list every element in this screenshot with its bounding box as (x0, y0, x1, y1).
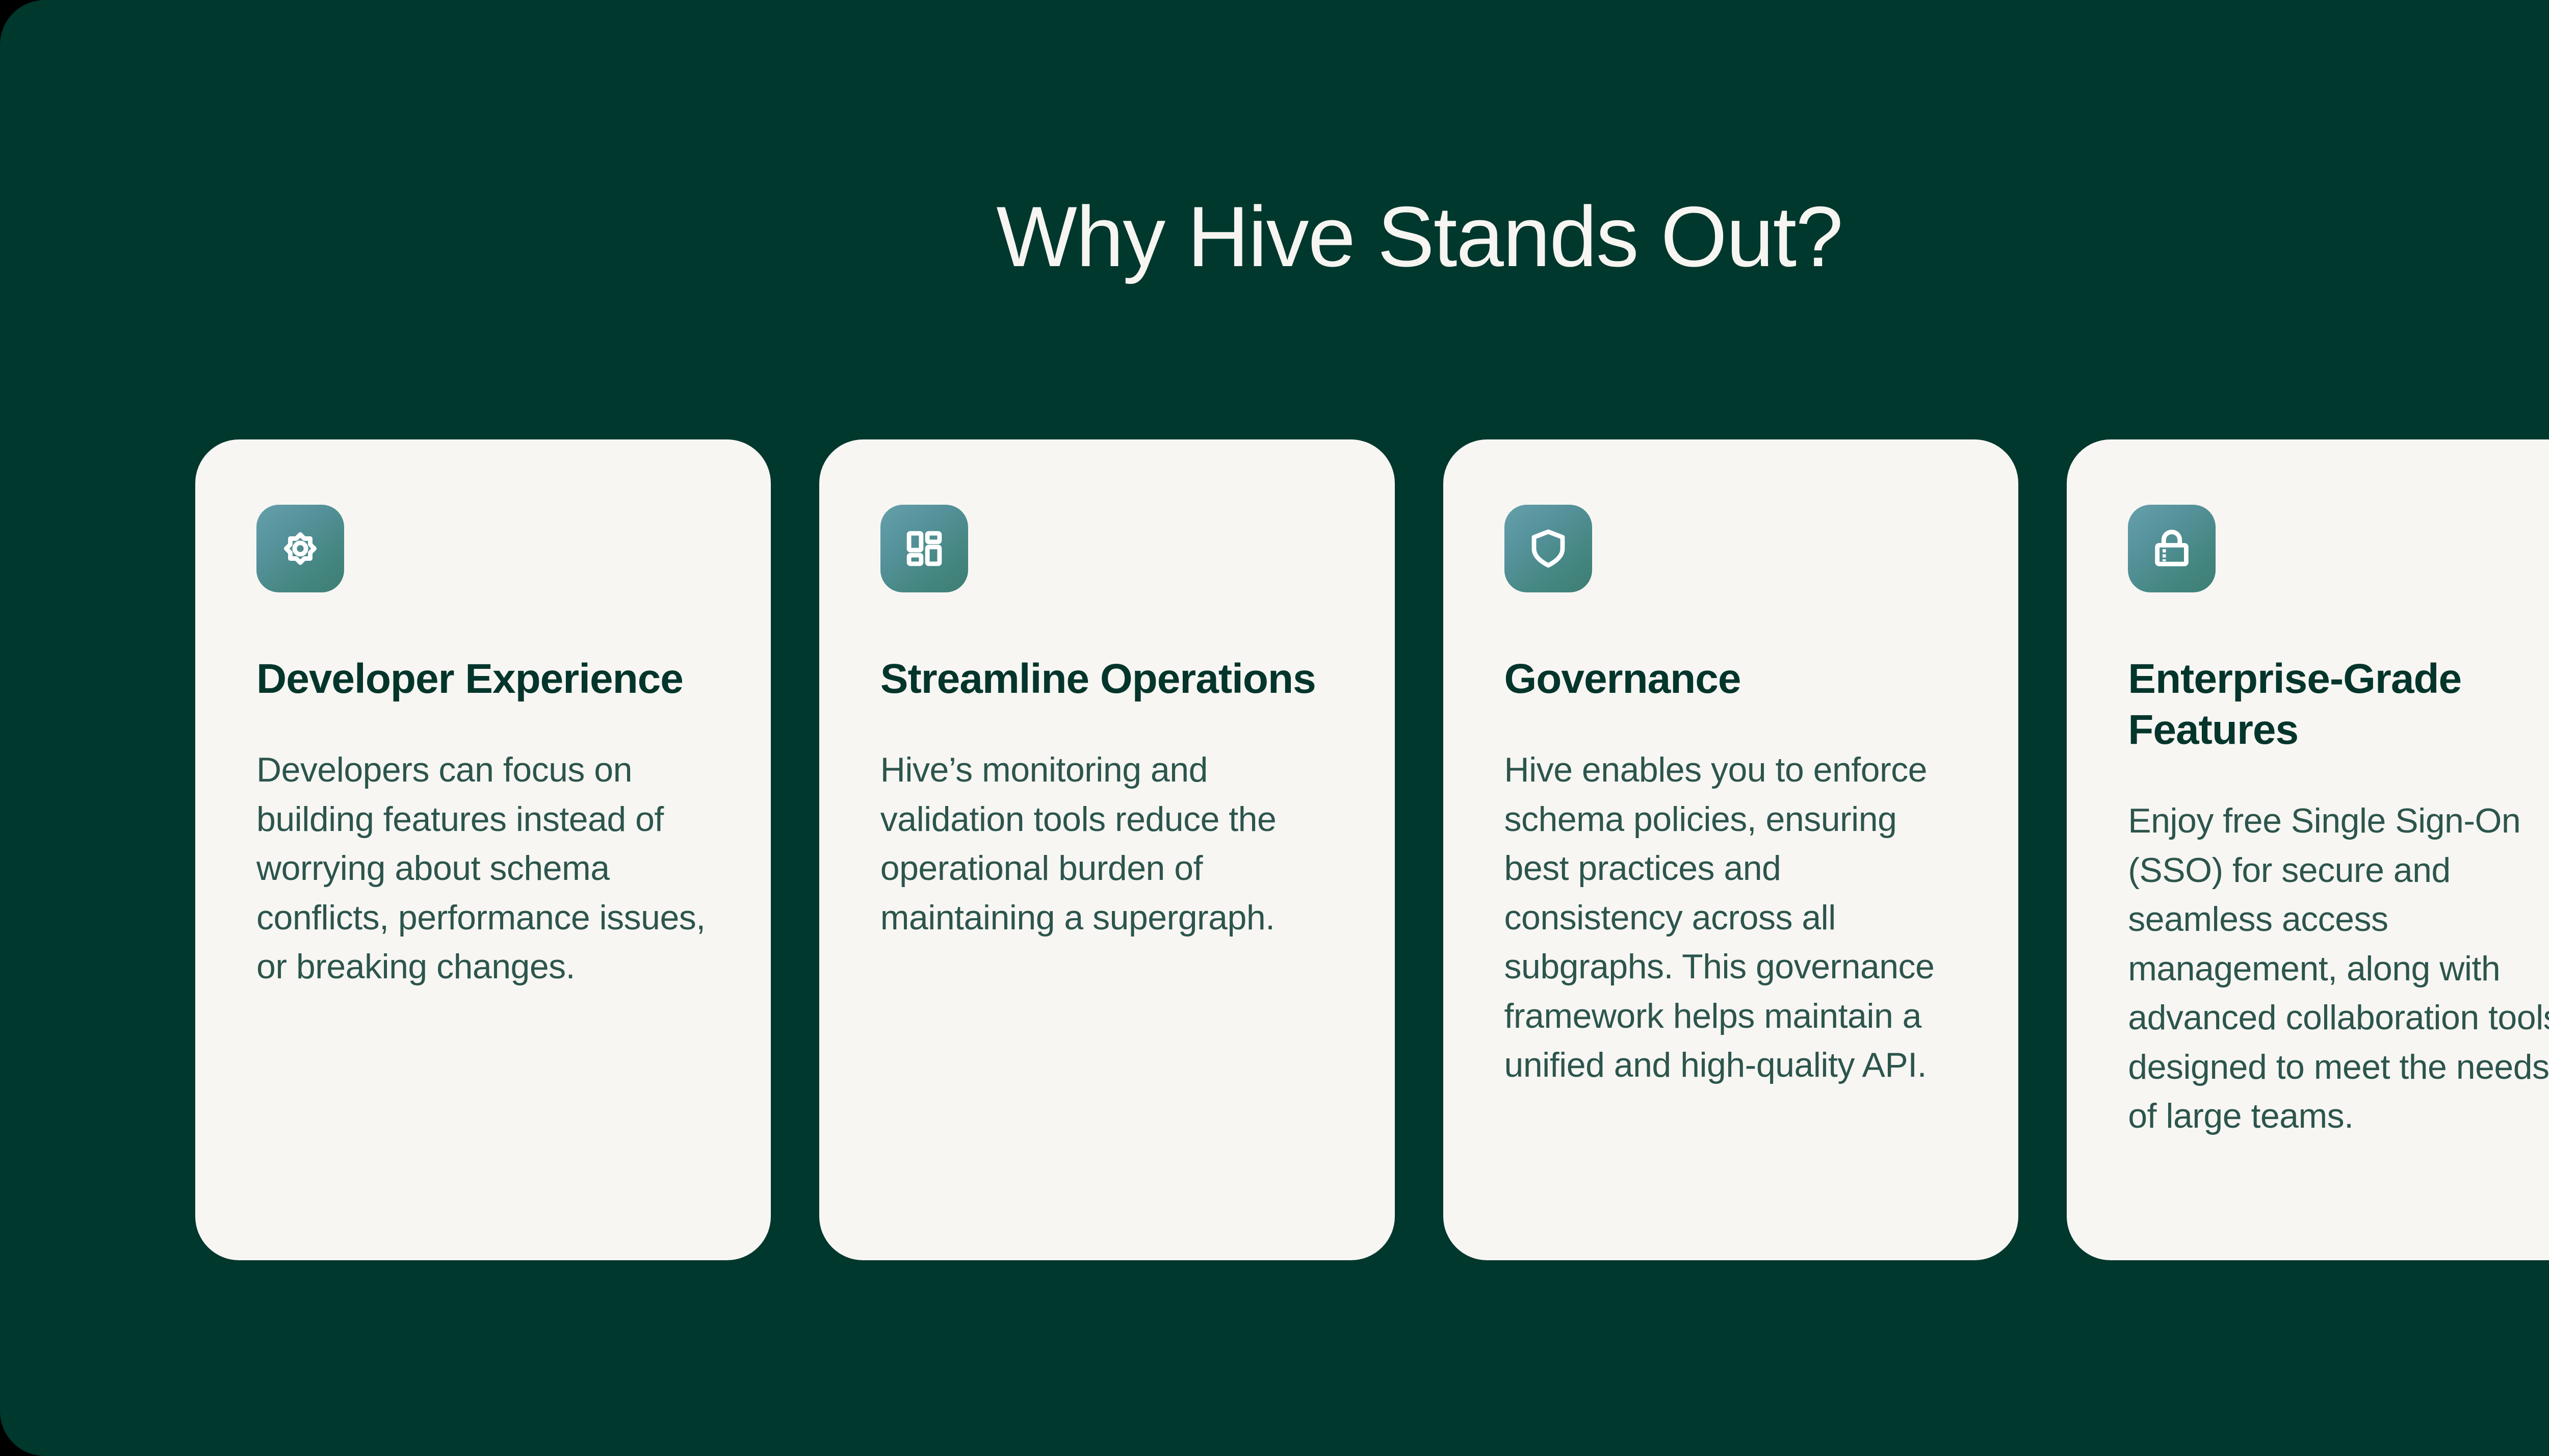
card-body: Enjoy free Single Sign-On (SSO) for secu… (2128, 796, 2549, 1141)
card-body: Hive enables you to enforce schema polic… (1504, 745, 1958, 1090)
feature-card-streamline-operations[interactable]: Streamline Operations Hive’s monitoring … (819, 439, 1395, 1260)
card-body: Developers can focus on building feature… (256, 745, 710, 992)
feature-card-enterprise-grade-features[interactable]: Enterprise-Grade Features Enjoy free Sin… (2067, 439, 2549, 1260)
icon-tile (880, 505, 968, 592)
gear-icon (277, 525, 324, 572)
card-title: Developer Experience (256, 654, 683, 705)
shield-icon (1525, 525, 1572, 572)
icon-tile (1504, 505, 1592, 592)
icon-tile (2128, 505, 2216, 592)
icon-tile (256, 505, 344, 592)
lock-icon (2148, 525, 2195, 572)
card-title: Streamline Operations (880, 654, 1316, 705)
dashboard-grid-icon (901, 525, 948, 572)
card-title: Enterprise-Grade Features (2128, 654, 2549, 756)
feature-card-row: Developer Experience Developers can focu… (195, 439, 2549, 1260)
feature-card-developer-experience[interactable]: Developer Experience Developers can focu… (195, 439, 771, 1260)
page-title: Why Hive Stands Out? (0, 189, 2549, 284)
feature-section: Why Hive Stands Out? Developer Experienc… (0, 0, 2549, 1456)
feature-card-governance[interactable]: Governance Hive enables you to enforce s… (1443, 439, 2019, 1260)
card-body: Hive’s monitoring and validation tools r… (880, 745, 1334, 942)
card-title: Governance (1504, 654, 1741, 705)
